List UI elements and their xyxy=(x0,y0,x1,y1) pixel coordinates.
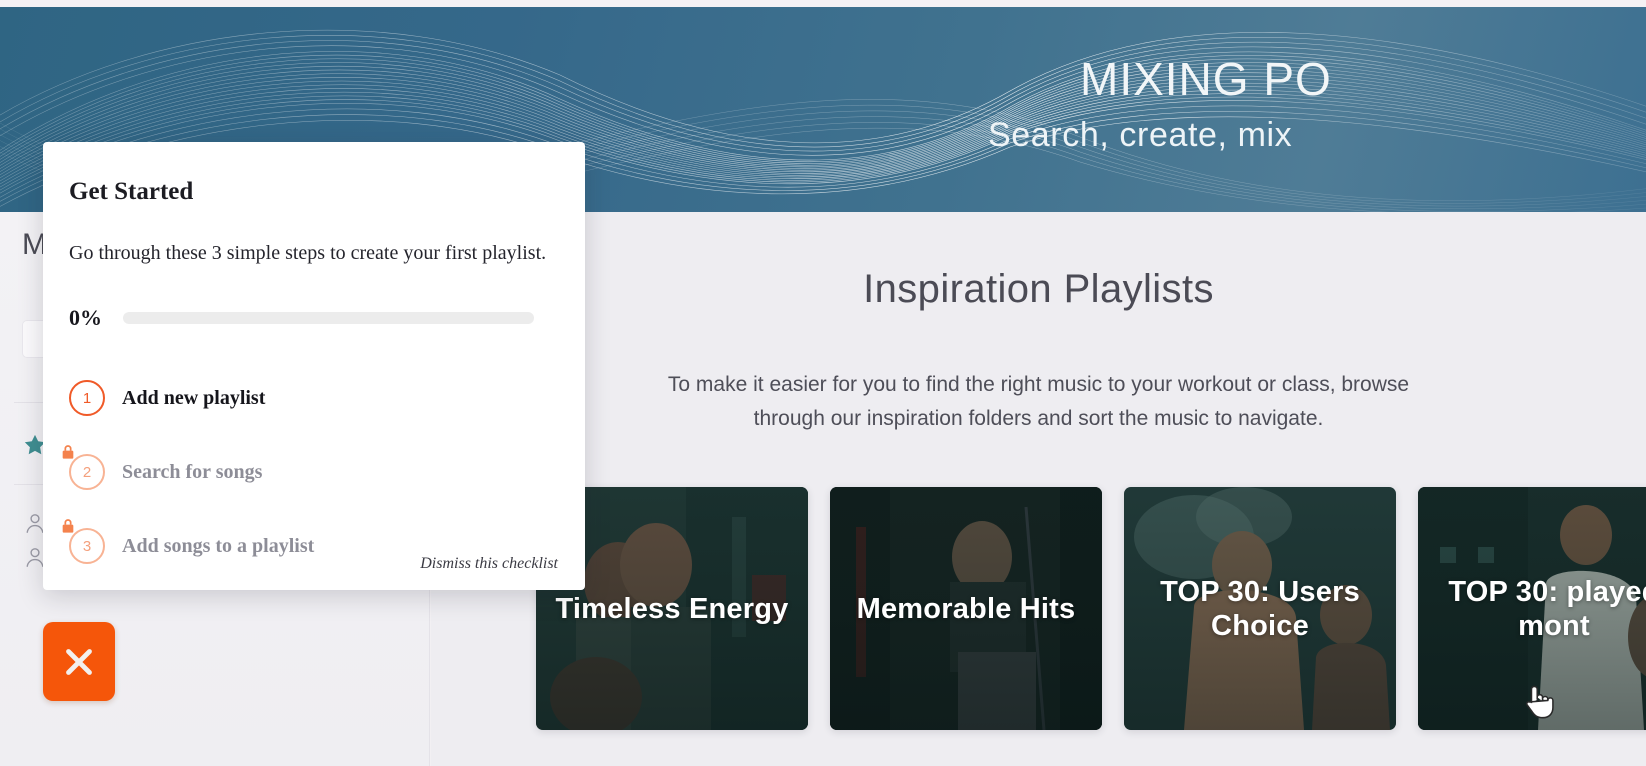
close-button[interactable] xyxy=(43,622,115,701)
playlist-card[interactable]: TOP 30: played mont xyxy=(1418,487,1646,730)
card-title: TOP 30: Users Choice xyxy=(1124,574,1396,642)
step-label: Add new playlist xyxy=(122,387,265,410)
hero-title: MIXING PO xyxy=(1080,55,1646,103)
checklist-description: Go through these 3 simple steps to creat… xyxy=(69,242,556,265)
card-title: Memorable Hits xyxy=(830,591,1102,625)
page-title: Inspiration Playlists xyxy=(431,267,1646,312)
hero-subtitle: Search, create, mix xyxy=(988,116,1646,155)
card-title: Timeless Energy xyxy=(536,591,808,625)
playlist-card[interactable]: Memorable Hits xyxy=(830,487,1102,730)
lock-icon xyxy=(60,518,76,534)
close-icon xyxy=(61,644,97,680)
step-number: 1 xyxy=(83,390,91,407)
checklist-step-1[interactable]: 1 Add new playlist xyxy=(69,361,556,435)
checklist-title: Get Started xyxy=(69,178,556,206)
step-number-badge: 3 xyxy=(69,528,105,564)
step-number-badge: 2 xyxy=(69,454,105,490)
page-top-strip xyxy=(0,0,1646,7)
checklist-step-2[interactable]: 2 Search for songs xyxy=(69,435,556,509)
main-header: Inspiration Playlists To make it easier … xyxy=(431,212,1646,436)
main-content: Inspiration Playlists To make it easier … xyxy=(431,212,1646,766)
checklist-progress: 0% xyxy=(69,305,556,331)
step-number-badge: 1 xyxy=(69,380,105,416)
page-description: To make it easier for you to find the ri… xyxy=(639,368,1439,436)
step-label: Search for songs xyxy=(122,461,262,484)
card-title: TOP 30: played mont xyxy=(1418,574,1646,642)
get-started-checklist: Get Started Go through these 3 simple st… xyxy=(43,142,585,590)
progress-bar-track xyxy=(123,312,534,324)
progress-percent-label: 0% xyxy=(69,305,102,331)
hero-text-block: MIXING PO Search, create, mix xyxy=(946,55,1646,155)
step-label: Add songs to a playlist xyxy=(122,535,314,558)
lock-icon xyxy=(60,444,76,460)
playlist-card[interactable]: TOP 30: Users Choice xyxy=(1124,487,1396,730)
step-number: 3 xyxy=(83,538,91,555)
checklist-steps: 1 Add new playlist 2 Search for songs xyxy=(69,361,556,583)
app-root: MIXING PO Search, create, mix M xyxy=(0,0,1646,766)
dismiss-checklist-link[interactable]: Dismiss this checklist xyxy=(420,555,558,573)
step-number: 2 xyxy=(83,464,91,481)
playlist-card-row: Timeless Energy Memorabl xyxy=(536,487,1646,730)
